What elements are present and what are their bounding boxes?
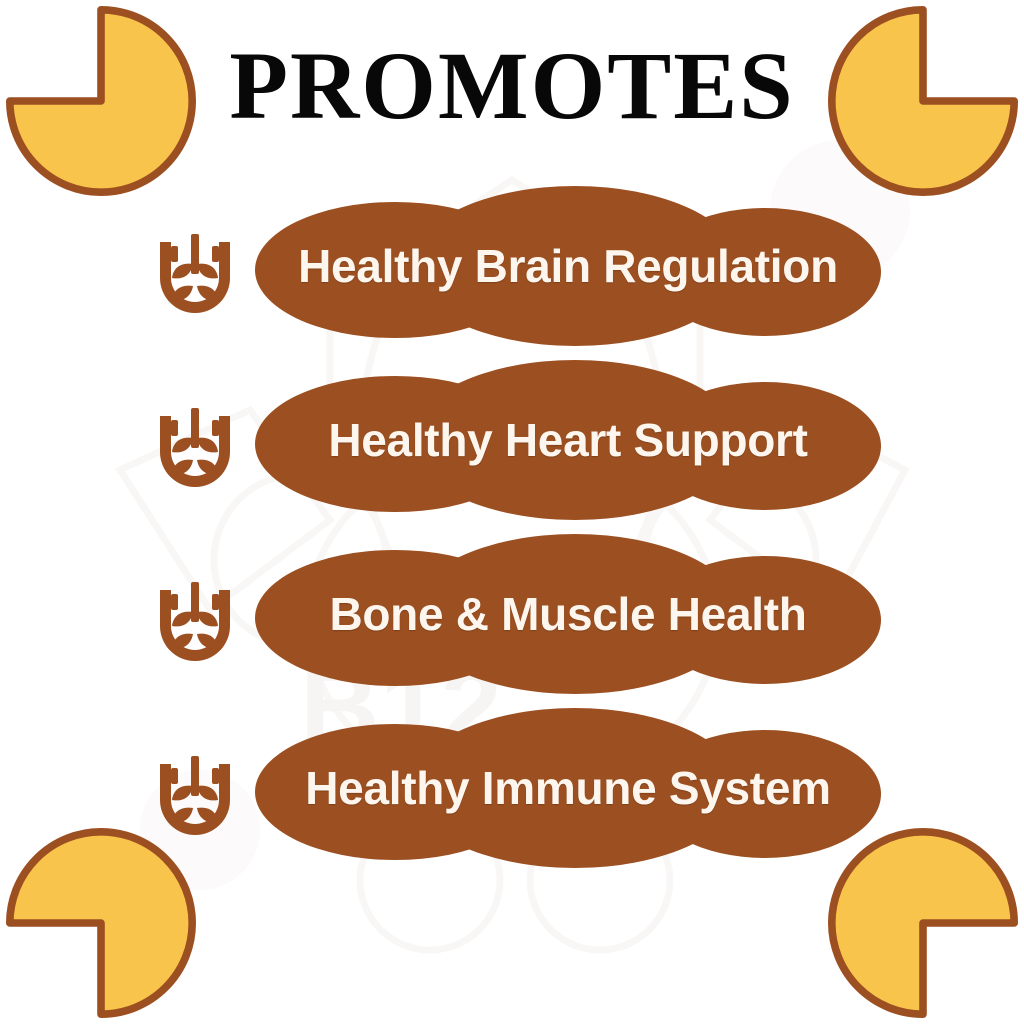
benefit-row[interactable]: Healthy Heart Support: [0, 360, 1024, 534]
benefit-row[interactable]: Healthy Brain Regulation: [0, 186, 1024, 360]
benefit-bubble: [255, 360, 881, 520]
benefit-bubble: [255, 534, 881, 694]
wheat-icon: [152, 228, 238, 320]
benefit-bubble: [255, 186, 881, 346]
page-title: PROMOTES: [0, 38, 1024, 134]
benefit-row[interactable]: Bone & Muscle Health: [0, 534, 1024, 708]
wheat-icon: [152, 750, 238, 842]
benefit-row[interactable]: Healthy Immune System: [0, 708, 1024, 882]
wheat-icon: [152, 402, 238, 494]
benefits-list: Healthy Brain Regulation: [0, 186, 1024, 882]
promotes-poster: B12 PROMOTES: [0, 0, 1024, 1024]
wheat-icon: [152, 576, 238, 668]
benefit-bubble: [255, 708, 881, 868]
